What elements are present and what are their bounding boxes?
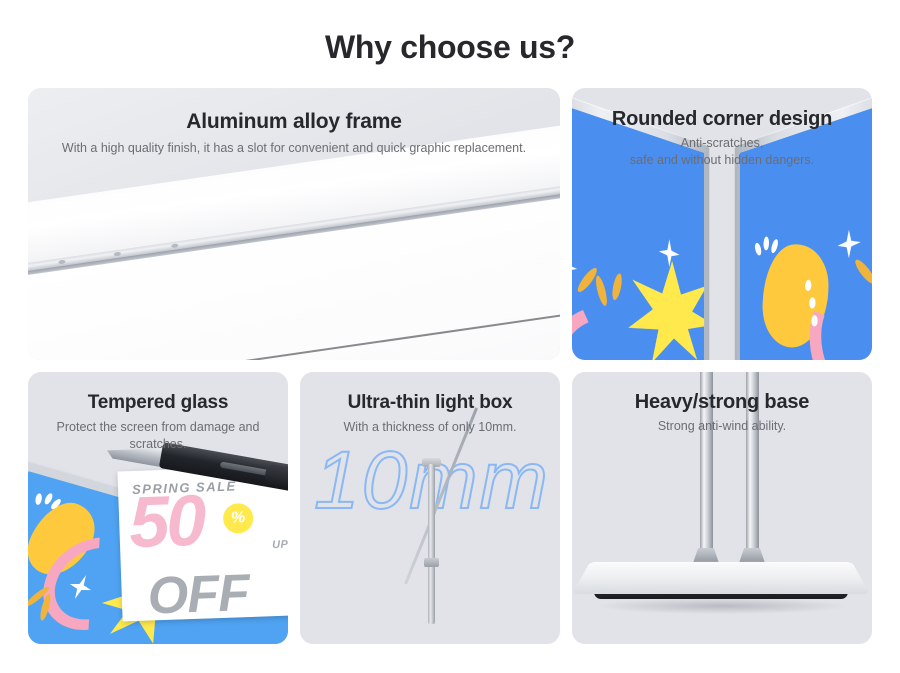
base-plate: [572, 562, 870, 594]
aluminum-frame-illustration: [28, 88, 560, 360]
poster-up-to: UP TO: [272, 539, 288, 552]
dot-shape: [770, 239, 779, 254]
poster-percent-badge: %: [223, 503, 254, 534]
feature-card-aluminum-alloy-frame: Aluminum alloy frame With a high quality…: [28, 88, 560, 360]
light-box-slab: [28, 117, 560, 360]
yellow-blob-shape: [28, 641, 97, 644]
support-pole: [700, 372, 713, 558]
knife-grip: [264, 464, 288, 491]
poster-discount: 50: [128, 485, 205, 560]
dot-shape: [35, 493, 43, 505]
poster-offer-word: OFF: [147, 567, 250, 621]
base-shadow: [598, 598, 846, 614]
leaf-shape: [611, 272, 624, 301]
panel-support-post: [428, 464, 435, 624]
feature-card-tempered-glass: SPRING SALE 50 % UP TO OFF Tempered glas…: [28, 372, 288, 644]
heavy-base-illustration: [572, 372, 872, 644]
feature-infographic: Why choose us? Aluminum alloy frame With…: [0, 0, 900, 673]
dot-shape: [754, 242, 763, 257]
light-box-panel-right: [734, 88, 872, 360]
leaf-shape: [594, 275, 609, 307]
ultra-thin-illustration: 10mm: [300, 372, 560, 644]
dot-shape: [764, 236, 770, 251]
feature-card-rounded-corner-design: Rounded corner design Anti-scratches, sa…: [572, 88, 872, 360]
support-pole: [746, 372, 759, 558]
sparkle-icon: [837, 228, 860, 260]
sparkle-icon: [659, 237, 680, 268]
rounded-corner-illustration: [572, 88, 872, 360]
feature-card-heavy-strong-base: Heavy/strong base Strong anti-wind abili…: [572, 372, 872, 644]
page-title: Why choose us?: [0, 29, 900, 66]
light-box-panel-left: [572, 88, 710, 360]
poster-up-to-line: UP: [272, 539, 288, 552]
tempered-glass-illustration: SPRING SALE 50 % UP TO OFF: [28, 372, 288, 644]
sparkle-icon: [572, 255, 577, 280]
feature-card-ultra-thin-light-box: 10mm Ultra-thin light box With a thickne…: [300, 372, 560, 644]
panel-clamp: [424, 558, 439, 567]
